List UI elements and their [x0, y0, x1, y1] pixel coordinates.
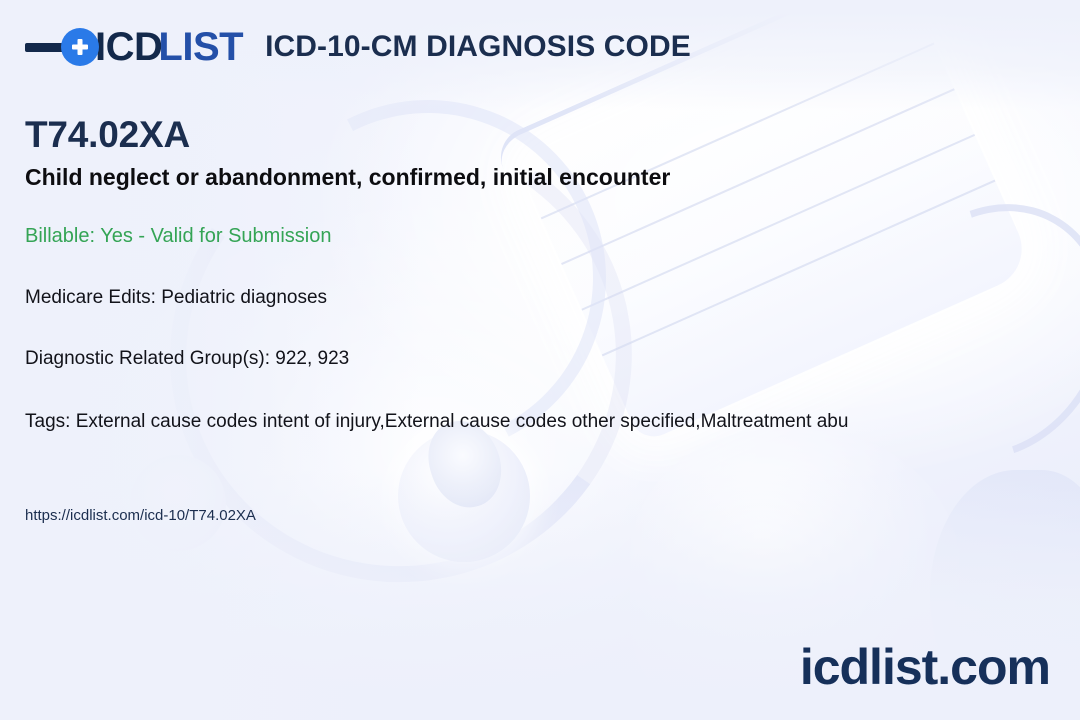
plus-circle-icon [61, 28, 99, 66]
header: ICD LIST ICD-10-CM DIAGNOSIS CODE [25, 27, 691, 67]
diagnostic-related-groups: Diagnostic Related Group(s): 922, 923 [25, 349, 349, 368]
logo-word-list: LIST [158, 27, 243, 67]
diagnosis-code-card: ICD LIST ICD-10-CM DIAGNOSIS CODE T74.02… [0, 0, 1080, 720]
source-url[interactable]: https://icdlist.com/icd-10/T74.02XA [25, 508, 256, 523]
diagnosis-description: Child neglect or abandonment, confirmed,… [25, 166, 670, 189]
logo-word-icd: ICD [95, 27, 162, 67]
billable-status: Billable: Yes - Valid for Submission [25, 226, 331, 246]
page-title: ICD-10-CM DIAGNOSIS CODE [265, 32, 691, 62]
medicare-edits: Medicare Edits: Pediatric diagnoses [25, 288, 327, 307]
icdlist-logo[interactable]: ICD LIST [25, 27, 243, 67]
card-content: ICD LIST ICD-10-CM DIAGNOSIS CODE T74.02… [0, 0, 1080, 720]
diagnosis-code: T74.02XA [25, 116, 190, 153]
tags-list: Tags: External cause codes intent of inj… [25, 412, 848, 431]
site-watermark: icdlist.com [800, 642, 1050, 692]
